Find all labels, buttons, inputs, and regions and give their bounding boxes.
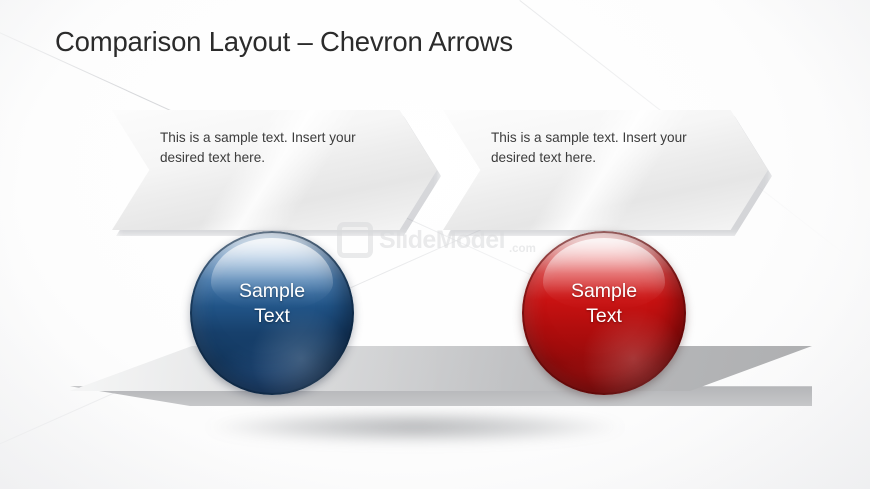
sphere-blue-rim-light [190,231,354,395]
chevron-right[interactable]: This is a sample text. Insert your desir… [443,110,768,230]
platform-top-face [70,346,812,391]
chevron-left[interactable]: This is a sample text. Insert your desir… [112,110,437,230]
sphere-blue[interactable]: Sample Text [190,231,354,395]
platform-drop-shadow [135,405,695,449]
sphere-red[interactable]: Sample Text [522,231,686,395]
chevron-left-text: This is a sample text. Insert your desir… [160,128,378,168]
sphere-blue-gloss [211,238,332,310]
sphere-red-gloss [543,238,664,310]
sphere-red-body[interactable]: Sample Text [522,231,686,395]
sphere-red-label: Sample Text [522,279,686,329]
sphere-blue-label-line2: Text [190,304,354,329]
slide-canvas: Comparison Layout – Chevron Arrows This … [0,0,870,489]
sphere-red-label-line2: Text [522,304,686,329]
sphere-red-label-line1: Sample [522,279,686,304]
sphere-blue-label-line1: Sample [190,279,354,304]
sphere-red-rim-light [522,231,686,395]
sphere-blue-body[interactable]: Sample Text [190,231,354,395]
chevron-right-text: This is a sample text. Insert your desir… [491,128,709,168]
slide-title: Comparison Layout – Chevron Arrows [55,26,513,58]
sphere-blue-label: Sample Text [190,279,354,329]
